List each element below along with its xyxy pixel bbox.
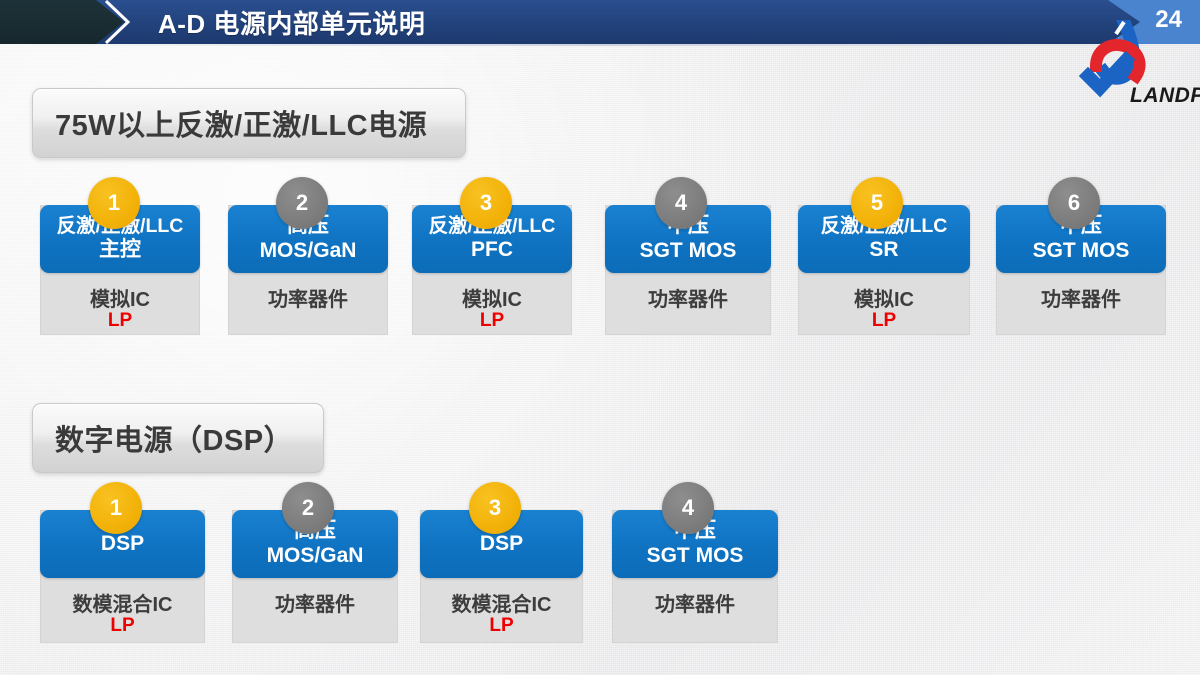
item-category-label: 功率器件	[228, 283, 388, 312]
header-underline	[0, 44, 1200, 46]
item-number-badge: 5	[851, 177, 903, 229]
item-title-line-1: DSP	[480, 532, 523, 557]
item-number-badge: 1	[90, 482, 142, 534]
item-number-badge: 6	[1048, 177, 1100, 229]
item-category-label: 数模混合IC	[420, 588, 583, 617]
item-title-line-2: SR	[869, 238, 898, 263]
item-card[interactable]: 反激/正激/LLCSR模拟ICLP5	[798, 177, 970, 337]
item-title-line-2: 主控	[99, 238, 141, 263]
item-lp-tag: LP	[798, 310, 970, 332]
item-card[interactable]: DSP数模混合ICLP3	[420, 482, 583, 645]
item-number-badge: 4	[662, 482, 714, 534]
slide-header: Part A-D 电源内部单元说明 24	[0, 0, 1200, 45]
item-category-label: 功率器件	[612, 588, 778, 617]
item-lp-tag: LP	[412, 310, 572, 332]
landp-logo: LANDP	[1066, 20, 1198, 110]
item-number-badge: 3	[460, 177, 512, 229]
header-title: A-D 电源内部单元说明	[158, 4, 425, 41]
item-title-line-1: DSP	[101, 532, 144, 557]
item-category-label: 功率器件	[232, 588, 398, 617]
item-number-badge: 2	[282, 482, 334, 534]
item-title-line-2: SGT MOS	[640, 239, 737, 264]
item-card[interactable]: 中压SGT MOS功率器件4	[612, 482, 778, 645]
logo-wordmark: LANDP	[1130, 84, 1200, 108]
item-number-badge: 4	[655, 177, 707, 229]
item-lp-tag: LP	[420, 615, 583, 637]
item-card[interactable]: 中压SGT MOS功率器件6	[996, 177, 1166, 337]
item-category-label: 模拟IC	[798, 283, 970, 312]
item-number-badge: 1	[88, 177, 140, 229]
item-card[interactable]: 中压SGT MOS功率器件4	[605, 177, 771, 337]
section-title-power-supply: 75W以上反激/正激/LLC电源	[32, 88, 466, 158]
item-category-label: 功率器件	[605, 283, 771, 312]
slide-canvas: Part A-D 电源内部单元说明 24 LANDP 75W以上反激/正激/LL…	[0, 0, 1200, 675]
item-category-label: 功率器件	[996, 283, 1166, 312]
item-title-line-2: SGT MOS	[647, 544, 744, 569]
item-category-label: 数模混合IC	[40, 588, 205, 617]
item-card[interactable]: 反激/正激/LLCPFC模拟ICLP3	[412, 177, 572, 337]
item-title-line-2: MOS/GaN	[260, 239, 357, 264]
item-title-line-2: SGT MOS	[1033, 239, 1130, 264]
item-card[interactable]: 高压MOS/GaN功率器件2	[228, 177, 388, 337]
item-card[interactable]: 反激/正激/LLC主控模拟ICLP1	[40, 177, 200, 337]
item-lp-tag: LP	[40, 310, 200, 332]
item-lp-tag: LP	[40, 615, 205, 637]
item-title-line-2: PFC	[471, 238, 513, 263]
section-title-digital-power: 数字电源（DSP）	[32, 403, 324, 473]
section-2-label: 数字电源（DSP）	[33, 417, 293, 459]
section-1-label: 75W以上反激/正激/LLC电源	[33, 102, 427, 144]
item-card[interactable]: 高压MOS/GaN功率器件2	[232, 482, 398, 645]
item-category-label: 模拟IC	[412, 283, 572, 312]
item-category-label: 模拟IC	[40, 283, 200, 312]
chevron-right-icon	[104, 0, 130, 44]
item-card[interactable]: DSP数模混合ICLP1	[40, 482, 205, 645]
item-number-badge: 2	[276, 177, 328, 229]
item-number-badge: 3	[469, 482, 521, 534]
item-title-line-2: MOS/GaN	[267, 544, 364, 569]
